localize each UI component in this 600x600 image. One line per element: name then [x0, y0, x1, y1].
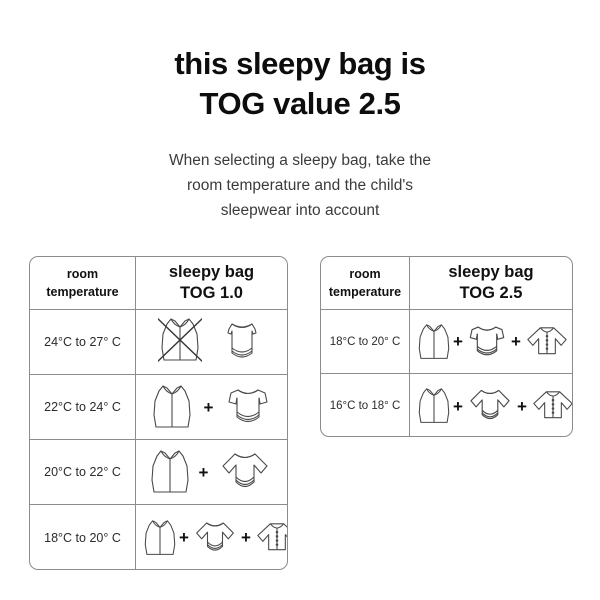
page-title: this sleepy bag is TOG value 2.5: [0, 44, 600, 123]
cross-out-x-icon: [158, 314, 202, 366]
page-subtitle: When selecting a sleepy bag, take the ro…: [110, 148, 490, 223]
table-row: 20°C to 22° C +: [30, 440, 287, 505]
cardigan-icon: [528, 384, 573, 428]
temperature-cell: 18°C to 20° C: [30, 505, 136, 570]
table-header-row: room temperature sleepy bag TOG 1.0: [30, 257, 287, 310]
header-room-line-1: room: [329, 265, 401, 283]
bodysuit-long-sleeve-icon: [464, 384, 516, 428]
tog-1-0-table: room temperature sleepy bag TOG 1.0 24°C…: [29, 256, 288, 570]
table-row: 22°C to 24° C +: [30, 375, 287, 440]
garments-cell: +: [136, 440, 287, 504]
tog-2-5-table: room temperature sleepy bag TOG 2.5 18°C…: [320, 256, 573, 437]
header-cell-room-temperature: room temperature: [321, 257, 410, 309]
temperature-label: 24°C to 27° C: [44, 335, 121, 349]
table-row: 18°C to 20° C +: [321, 310, 572, 374]
table-row: 18°C to 20° C +: [30, 505, 287, 570]
temperature-cell: 24°C to 27° C: [30, 310, 136, 374]
header-bag-line-2: TOG 2.5: [416, 283, 566, 304]
temperature-label: 16°C to 18° C: [330, 400, 401, 412]
sleep-bag-icon: [416, 319, 452, 365]
bodysuit-sleeveless-icon: [219, 317, 265, 367]
bodysuit-short-sleeve-icon: [223, 382, 273, 432]
plus-separator: +: [452, 333, 464, 350]
temperature-label: 20°C to 22° C: [44, 465, 121, 479]
plus-separator: +: [240, 529, 252, 546]
plus-separator: +: [198, 464, 210, 481]
temperature-label: 22°C to 24° C: [44, 400, 121, 414]
plus-separator: +: [203, 399, 215, 416]
plus-separator: +: [516, 398, 528, 415]
garments-cell: [136, 310, 287, 374]
garments-cell: + +: [410, 310, 573, 373]
sleep-bag-icon: [150, 381, 194, 433]
page-subtitle-line-3: sleepwear into account: [110, 198, 490, 223]
cardigan-icon: [252, 516, 288, 560]
temperature-cell: 16°C to 18° C: [321, 374, 410, 437]
page-subtitle-line-2: room temperature and the child's: [110, 173, 490, 198]
header-room-line-2: temperature: [46, 283, 118, 301]
header-bag-line-1: sleepy bag: [416, 262, 566, 283]
table-header-row: room temperature sleepy bag TOG 2.5: [321, 257, 572, 310]
page-title-line-2: TOG value 2.5: [0, 84, 600, 124]
sleep-bag-icon: [148, 446, 192, 498]
table-row: 16°C to 18° C +: [321, 374, 572, 437]
temperature-cell: 20°C to 22° C: [30, 440, 136, 504]
plus-separator: +: [510, 333, 522, 350]
bodysuit-short-sleeve-icon: [464, 320, 510, 364]
temperature-cell: 22°C to 24° C: [30, 375, 136, 439]
header-cell-sleepy-bag: sleepy bag TOG 2.5: [410, 257, 572, 309]
page-title-line-1: this sleepy bag is: [174, 46, 425, 81]
page-subtitle-line-1: When selecting a sleepy bag, take the: [110, 148, 490, 173]
header-room-line-1: room: [46, 265, 118, 283]
temperature-cell: 18°C to 20° C: [321, 310, 410, 373]
plus-separator: +: [452, 398, 464, 415]
header-cell-sleepy-bag: sleepy bag TOG 1.0: [136, 257, 287, 309]
bodysuit-long-sleeve-icon: [190, 516, 240, 560]
plus-separator: +: [178, 529, 190, 546]
header-bag-line-2: TOG 1.0: [142, 283, 281, 304]
bodysuit-long-sleeve-icon: [215, 447, 275, 497]
sleep-bag-crossed-out-icon: [158, 314, 202, 371]
garments-cell: + +: [136, 505, 288, 570]
garments-cell: + +: [410, 374, 573, 437]
header-bag-line-1: sleepy bag: [142, 262, 281, 283]
sleep-bag-icon: [142, 515, 178, 561]
header-room-line-2: temperature: [329, 283, 401, 301]
header-cell-room-temperature: room temperature: [30, 257, 136, 309]
infographic-page: this sleepy bag is TOG value 2.5 When se…: [0, 0, 600, 600]
garments-cell: +: [136, 375, 287, 439]
sleep-bag-icon: [416, 383, 452, 429]
temperature-label: 18°C to 20° C: [330, 336, 401, 348]
table-row: 24°C to 27° C: [30, 310, 287, 375]
cardigan-icon: [522, 320, 572, 364]
temperature-label: 18°C to 20° C: [44, 531, 121, 545]
